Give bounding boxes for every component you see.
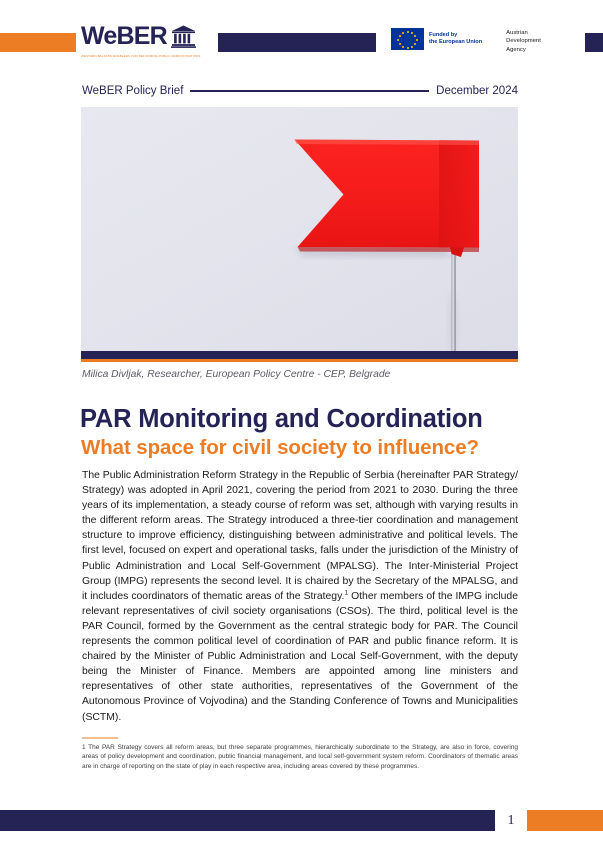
hero-image — [81, 107, 518, 351]
classical-temple-icon — [171, 25, 196, 48]
footer-band-navy — [0, 810, 495, 831]
page-title: PAR Monitoring and Coordination — [80, 405, 525, 434]
weber-logo-text: WeBER — [81, 23, 167, 50]
footnote-separator — [82, 737, 118, 739]
weber-wordmark: WeBER — [81, 23, 213, 50]
article-body-part1: The Public Administration Reform Strateg… — [82, 470, 518, 602]
article-body: The Public Administration Reform Strateg… — [82, 468, 518, 725]
austria-caption-line2: Development — [506, 38, 541, 44]
eu-flag-icon — [391, 28, 424, 50]
hero-accent-bar-navy — [81, 351, 518, 359]
header-band-navy-middle — [218, 33, 376, 52]
footer-band-orange — [527, 810, 603, 831]
hero-accent-bar-orange — [81, 359, 518, 362]
weber-logo-tagline: WESTERN BALKANS ENABLERS FOR REFORMING P… — [81, 54, 213, 58]
eu-funding-logo: Funded by the European Union — [391, 28, 482, 50]
austria-caption-line3: Agency — [506, 47, 526, 53]
header-divider-rule — [190, 90, 429, 91]
policy-brief-label: WeBER Policy Brief — [82, 85, 183, 97]
eu-caption-line2: the European Union — [429, 39, 482, 45]
page-subtitle: What space for civil society to influenc… — [81, 435, 526, 461]
eu-funding-caption: Funded by the European Union — [429, 32, 482, 47]
footnote-marker: 1 — [344, 589, 348, 596]
page-number: 1 — [495, 810, 527, 831]
austrian-development-agency-logo: Austrian Development Agency — [492, 28, 541, 54]
austrian-agency-caption: Austrian Development Agency — [506, 29, 541, 54]
weber-logo: WeBER WESTERN BALKANS ENABLERS FOR REFOR… — [81, 23, 213, 65]
policy-brief-header-line: WeBER Policy Brief December 2024 — [82, 85, 518, 97]
header-band-navy-right — [585, 33, 603, 52]
eu-caption-line1: Funded by — [429, 32, 457, 38]
article-author: Milica Divljak, Researcher, European Pol… — [82, 369, 522, 380]
austria-caption-line1: Austrian — [506, 30, 528, 36]
donor-logos: Funded by the European Union Austrian De… — [391, 28, 541, 54]
header-band-orange-left — [0, 33, 76, 52]
footnote-text: 1 The PAR Strategy covers all reform are… — [82, 743, 518, 771]
policy-brief-date: December 2024 — [436, 85, 518, 97]
austria-flag-icon — [492, 29, 502, 30]
article-body-part2: Other members of the IMPG include releva… — [82, 591, 518, 723]
